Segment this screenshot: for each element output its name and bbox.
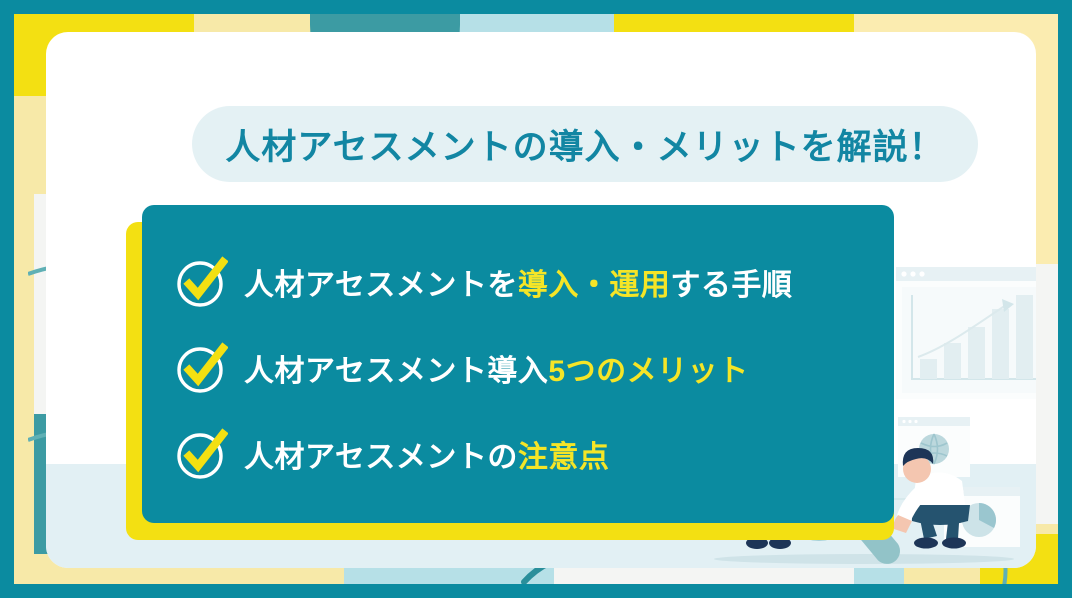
page-title: 人材アセスメントの導入・メリットを解説！ xyxy=(225,119,944,170)
list-item: 人材アセスメント導入5つのメリット xyxy=(174,325,894,411)
list-item-label: 人材アセスメント導入5つのメリット xyxy=(244,346,749,390)
list-item: 人材アセスメントを導入・運用する手順 xyxy=(174,239,894,325)
banner-stage: 人材アセスメントの導入・メリットを解説！ 人材アセスメントを導入・運用する手順 xyxy=(0,0,1072,598)
list-item: 人材アセスメントの注意点 xyxy=(174,411,894,497)
title-pill: 人材アセスメントの導入・メリットを解説！ xyxy=(192,106,978,182)
check-circle-icon xyxy=(174,427,228,481)
check-circle-icon xyxy=(174,255,228,309)
check-circle-icon xyxy=(174,341,228,395)
bar-chart-window-icon xyxy=(896,267,1036,399)
list-item-label: 人材アセスメントの注意点 xyxy=(244,432,609,476)
ground-shadow xyxy=(714,554,1014,564)
bullet-box: 人材アセスメントを導入・運用する手順 人材アセスメント導入5つのメリット xyxy=(142,205,894,523)
content-card: 人材アセスメントの導入・メリットを解説！ 人材アセスメントを導入・運用する手順 xyxy=(46,32,1036,568)
list-item-label: 人材アセスメントを導入・運用する手順 xyxy=(244,260,792,304)
